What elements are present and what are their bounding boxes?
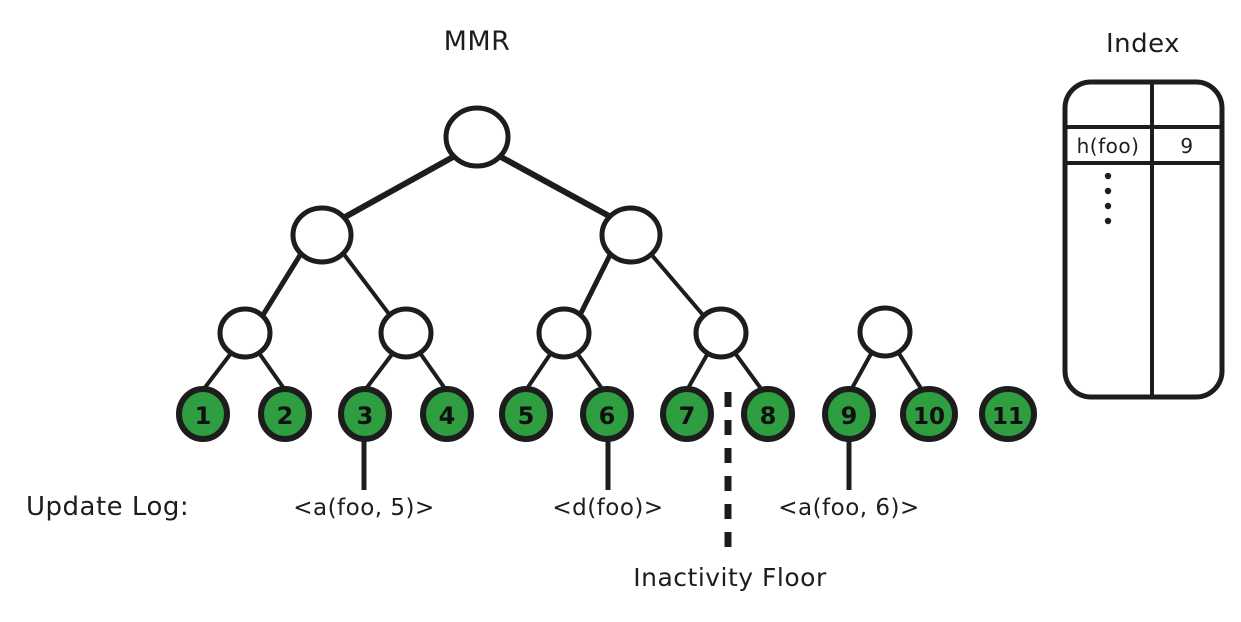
update-log-entry-2: <d(foo)> bbox=[552, 495, 663, 521]
edge-l2left-l3a bbox=[263, 252, 302, 315]
diagram-canvas: MMR bbox=[0, 0, 1241, 622]
leaf-node-7[interactable]: 7 bbox=[663, 389, 711, 439]
edge-root-l2left bbox=[345, 157, 453, 217]
internal-node-l2-right[interactable] bbox=[602, 208, 660, 262]
leaf-node-5[interactable]: 5 bbox=[502, 389, 550, 439]
leaf-node-10[interactable]: 10 bbox=[903, 389, 955, 439]
leaf-label: 1 bbox=[195, 402, 212, 430]
leaf-label: 7 bbox=[679, 402, 696, 430]
leaf-label: 10 bbox=[913, 404, 945, 430]
dot-icon bbox=[1105, 203, 1111, 209]
edge-l3a-leaf1 bbox=[203, 352, 232, 390]
edge-l3b-leaf4 bbox=[420, 353, 446, 390]
internal-node-l3-4[interactable] bbox=[696, 309, 746, 357]
edge-l3c-leaf6 bbox=[577, 353, 603, 390]
edge-l2right-l3d bbox=[650, 253, 703, 315]
leaf-label: 9 bbox=[841, 402, 858, 430]
dot-icon bbox=[1105, 218, 1111, 224]
update-log-entry-3: <a(foo, 6)> bbox=[778, 495, 920, 521]
leaf-nodes: 1 2 3 4 5 6 7 bbox=[179, 389, 1034, 439]
edge-l3a-leaf2 bbox=[259, 353, 285, 390]
internal-node-l3-5[interactable] bbox=[860, 308, 910, 356]
edge-l3e-leaf9 bbox=[851, 352, 872, 390]
edge-l3d-leaf8 bbox=[735, 353, 762, 390]
index-title: Index bbox=[1106, 29, 1180, 59]
leaf-node-9[interactable]: 9 bbox=[825, 389, 873, 439]
index-table[interactable]: h(foo) 9 bbox=[1065, 82, 1222, 397]
leaf-node-6[interactable]: 6 bbox=[583, 389, 631, 439]
edge-l3c-leaf5 bbox=[526, 353, 551, 390]
internal-node-l3-1[interactable] bbox=[220, 309, 270, 357]
index-row-value: 9 bbox=[1180, 134, 1193, 158]
update-log-connectors bbox=[364, 437, 849, 490]
edge-l2left-l3b bbox=[343, 253, 389, 314]
edge-l2right-l3c bbox=[580, 253, 611, 315]
edge-root-l2right bbox=[501, 157, 609, 216]
internal-nodes bbox=[220, 108, 910, 357]
leaf-label: 5 bbox=[518, 402, 535, 430]
edge-l3d-leaf7 bbox=[687, 353, 708, 390]
leaf-label: 8 bbox=[760, 402, 777, 430]
leaf-node-3[interactable]: 3 bbox=[341, 389, 389, 439]
update-log-entry-1: <a(foo, 5)> bbox=[293, 495, 435, 521]
index-row-key: h(foo) bbox=[1077, 134, 1140, 158]
index-table-border bbox=[1065, 82, 1222, 397]
internal-node-l3-2[interactable] bbox=[381, 309, 431, 357]
leaf-label: 3 bbox=[357, 402, 374, 430]
leaf-label: 6 bbox=[599, 402, 616, 430]
dot-icon bbox=[1105, 188, 1111, 194]
internal-node-root[interactable] bbox=[446, 108, 508, 166]
leaf-label: 4 bbox=[439, 402, 456, 430]
update-log-label: Update Log: bbox=[26, 492, 189, 522]
leaf-node-1[interactable]: 1 bbox=[179, 389, 227, 439]
leaf-label: 11 bbox=[992, 404, 1024, 430]
mmr-diagram: MMR bbox=[0, 0, 1241, 622]
leaf-node-11[interactable]: 11 bbox=[982, 389, 1034, 439]
internal-node-l3-3[interactable] bbox=[539, 309, 589, 357]
internal-node-l2-left[interactable] bbox=[293, 208, 351, 262]
leaf-label: 2 bbox=[277, 402, 294, 430]
edge-l3e-leaf10 bbox=[898, 352, 922, 390]
leaf-node-4[interactable]: 4 bbox=[423, 389, 471, 439]
leaf-node-8[interactable]: 8 bbox=[744, 389, 792, 439]
inactivity-floor-label: Inactivity Floor bbox=[633, 563, 827, 592]
leaf-node-2[interactable]: 2 bbox=[261, 389, 309, 439]
edge-l3b-leaf3 bbox=[365, 353, 393, 390]
mmr-title: MMR bbox=[444, 26, 511, 57]
dot-icon bbox=[1105, 173, 1111, 179]
